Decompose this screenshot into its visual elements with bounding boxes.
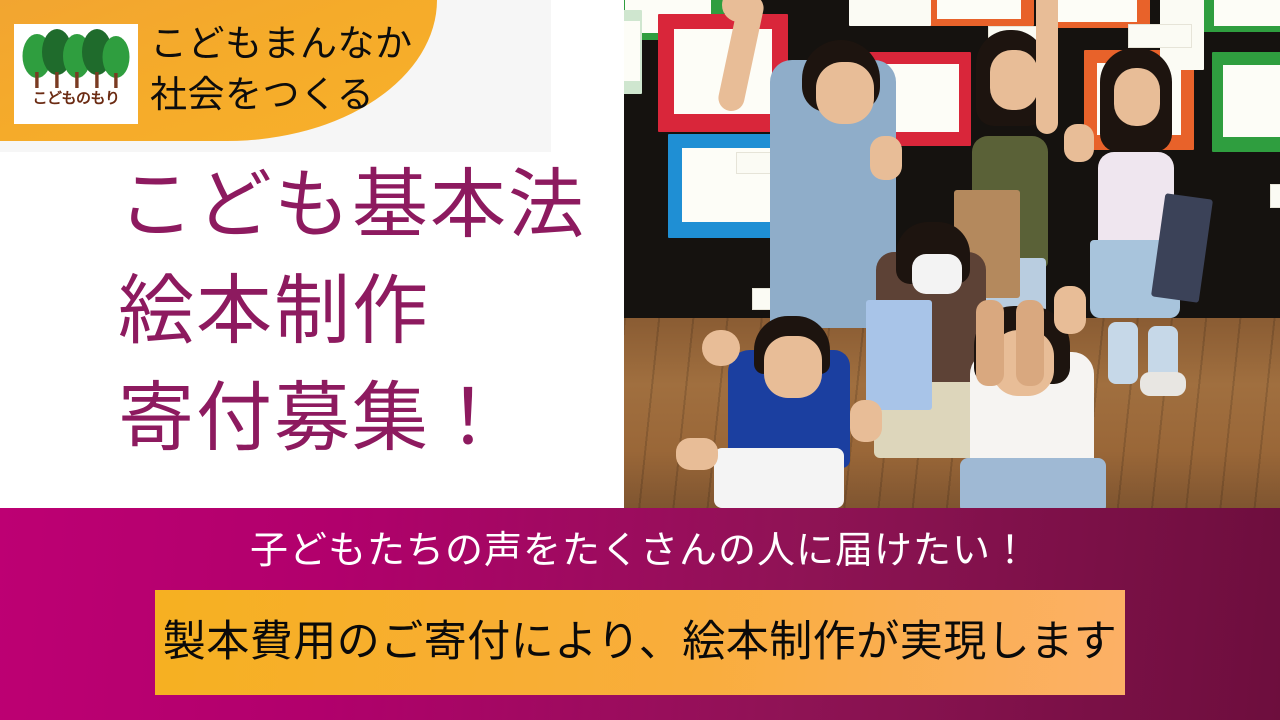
child-leg	[1016, 300, 1044, 386]
callout-box: 製本費用のご寄付により、絵本制作が実現します	[155, 590, 1125, 695]
child-face	[990, 50, 1038, 110]
name-tag	[1128, 24, 1192, 48]
child-hand-peace	[1064, 124, 1094, 162]
tree-logo-icon	[21, 28, 131, 90]
child-face	[816, 62, 874, 124]
brand-header: こどものもり こどもまんなか 社会をつくる	[0, 0, 437, 141]
banner-message: 子どもたちの声をたくさんの人に届けたい！	[0, 530, 1280, 572]
page-title: こども基本法 絵本制作 寄付募集！	[118, 152, 586, 471]
child-hand-peace	[1054, 286, 1086, 334]
display-poster	[924, 0, 1034, 26]
child-face	[764, 336, 822, 398]
name-tag	[1270, 184, 1280, 208]
display-poster	[1212, 52, 1280, 152]
donation-banner: 子どもたちの声をたくさんの人に届けたい！ 製本費用のご寄付により、絵本制作が実現…	[0, 508, 1280, 720]
child-hand-peace	[870, 136, 902, 180]
display-poster	[1202, 0, 1280, 32]
face-mask-icon	[912, 254, 962, 294]
display-poster	[849, 0, 931, 26]
left-text-panel: こどものもり こどもまんなか 社会をつくる こども基本法 絵本制作 寄付募集！	[0, 0, 624, 508]
child-shorts	[960, 458, 1106, 508]
logo-wordmark: こどものもり	[32, 91, 119, 106]
clipboard	[866, 300, 932, 410]
callout-text: 製本費用のご寄付により、絵本制作が実現します	[163, 621, 1117, 664]
event-photo	[624, 0, 1280, 508]
child-shoe	[1140, 372, 1186, 396]
child-sock	[1108, 322, 1138, 384]
poster-canvas: こどものもり こどもまんなか 社会をつくる こども基本法 絵本制作 寄付募集！	[0, 0, 1280, 720]
child-face	[1114, 68, 1160, 126]
child-leg	[976, 300, 1004, 386]
child-shorts	[714, 448, 844, 508]
child-fist	[702, 330, 740, 366]
organization-logo: こどものもり	[14, 24, 138, 124]
child-foot	[676, 438, 718, 470]
display-poster	[624, 10, 642, 94]
child-hand-peace	[850, 400, 882, 442]
brand-slogan: こどもまんなか 社会をつくる	[150, 18, 413, 120]
display-poster	[668, 134, 786, 238]
child-raised-arm	[1036, 0, 1058, 134]
